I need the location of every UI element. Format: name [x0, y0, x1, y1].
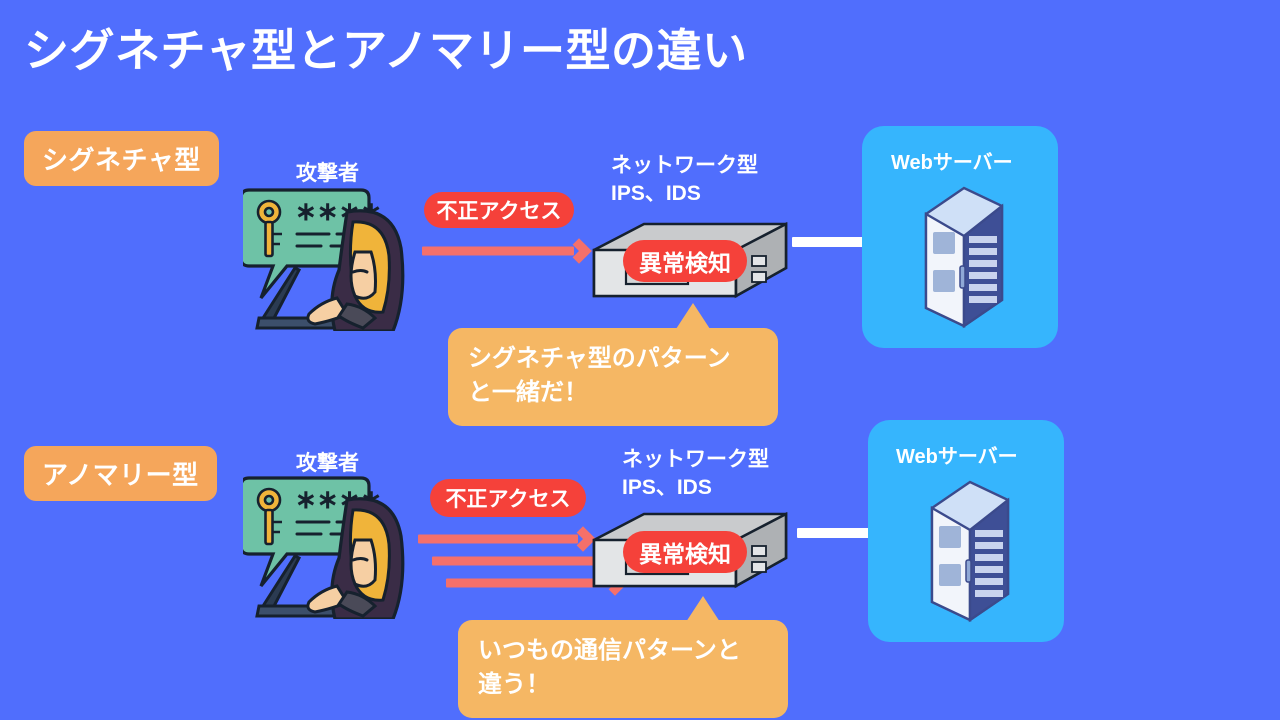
- attack-arrow-row2-2: [432, 556, 610, 565]
- attack-arrow-row1-1: [422, 246, 588, 255]
- ids-label-row2: ネットワーク型 IPS、IDS: [622, 446, 769, 501]
- callout-row2: いつもの通信パターンと 違う！: [458, 620, 788, 718]
- web-server-label-row1: Webサーバー: [891, 150, 1013, 176]
- attacker-illustration-row2: ∗∗∗∗: [243, 474, 408, 619]
- server-rack-illustration-row2: [928, 474, 1012, 624]
- slide-canvas: シグネチャ型とアノマリー型の違い シグネチャ型 攻撃者 ∗∗∗∗: [0, 0, 1280, 720]
- attacker-label-row1: 攻撃者: [296, 160, 359, 188]
- callout-tail-row2: [686, 596, 720, 622]
- row-badge-anomaly: アノマリー型: [24, 446, 217, 501]
- unauthorized-access-pill-row2: 不正アクセス: [430, 479, 586, 517]
- attacker-illustration-row1: ∗∗∗∗: [243, 186, 408, 331]
- unauthorized-access-pill-row1: 不正アクセス: [424, 192, 574, 228]
- anomaly-detected-pill-row1: 異常検知: [623, 240, 747, 282]
- ids-label-row1: ネットワーク型 IPS、IDS: [611, 152, 758, 207]
- web-server-label-row2: Webサーバー: [896, 444, 1018, 470]
- callout-row1: シグネチャ型のパターン と一緒だ！: [448, 328, 778, 426]
- anomaly-detected-pill-row2: 異常検知: [623, 531, 747, 573]
- page-title: シグネチャ型とアノマリー型の違い: [24, 14, 748, 79]
- server-rack-illustration-row1: [922, 180, 1006, 330]
- row-badge-signature: シグネチャ型: [24, 131, 219, 186]
- callout-tail-row1: [676, 303, 710, 329]
- attack-arrow-row2-1: [418, 534, 592, 543]
